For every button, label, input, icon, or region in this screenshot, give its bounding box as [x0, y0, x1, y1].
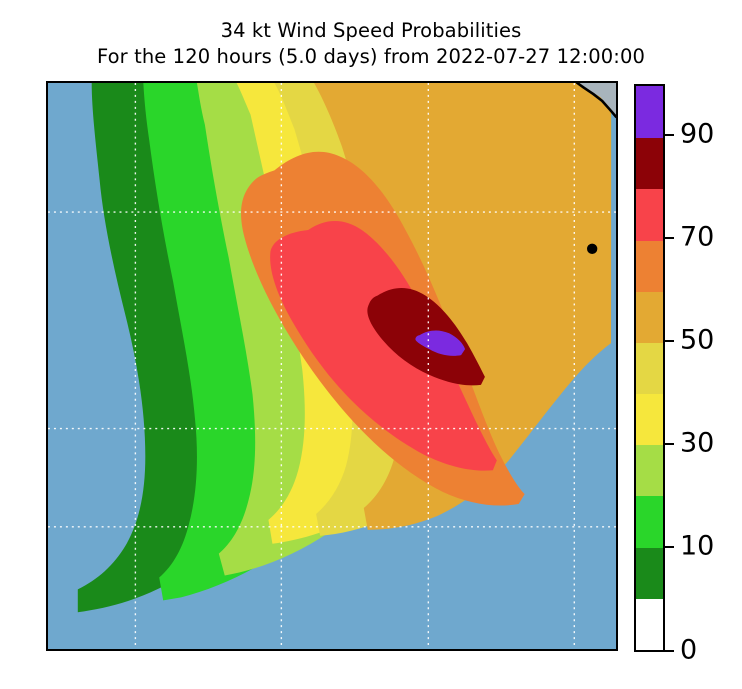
- colorbar-band-0-10: [636, 598, 663, 650]
- colorbar-band-10-20: [636, 547, 663, 599]
- page-title: 34 kt Wind Speed Probabilities: [0, 18, 742, 44]
- colorbar-band-20-30: [636, 496, 663, 548]
- colorbar: [634, 84, 665, 652]
- colorbar-band--100: [636, 86, 663, 138]
- figure-canvas: 34 kt Wind Speed Probabilities For the 1…: [0, 0, 742, 689]
- island-marker: [587, 244, 597, 254]
- colorbar-tick-label-10: 10: [680, 533, 714, 560]
- chart-title-block: 34 kt Wind Speed Probabilities For the 1…: [0, 18, 742, 70]
- colorbar-tick-mark-90: [665, 134, 674, 136]
- colorbar-band-70-80: [636, 240, 663, 292]
- colorbar-band-90-100: [636, 138, 663, 190]
- colorbar-band-80-90: [636, 189, 663, 241]
- colorbar-band-60-70: [636, 291, 663, 343]
- colorbar-tick-mark-10: [665, 546, 674, 548]
- colorbar-tick-label-50: 50: [680, 327, 714, 354]
- colorbar-band-50-60: [636, 342, 663, 394]
- coastline-layer: [48, 83, 616, 649]
- colorbar-tick-mark-50: [665, 340, 674, 342]
- colorbar-band-30-40: [636, 445, 663, 497]
- colorbar-tick-label-90: 90: [680, 121, 714, 148]
- colorbar-tick-label-30: 30: [680, 430, 714, 457]
- colorbar-tick-mark-70: [665, 237, 674, 239]
- chart-subtitle: For the 120 hours (5.0 days) from 2022-0…: [0, 44, 742, 70]
- colorbar-band-40-50: [636, 394, 663, 446]
- colorbar-tick-mark-30: [665, 443, 674, 445]
- map-plot-area: [46, 81, 618, 651]
- colorbar-tick-mark-0: [665, 650, 674, 652]
- colorbar-tick-label-70: 70: [680, 224, 714, 251]
- colorbar-tick-label-0: 0: [680, 636, 697, 663]
